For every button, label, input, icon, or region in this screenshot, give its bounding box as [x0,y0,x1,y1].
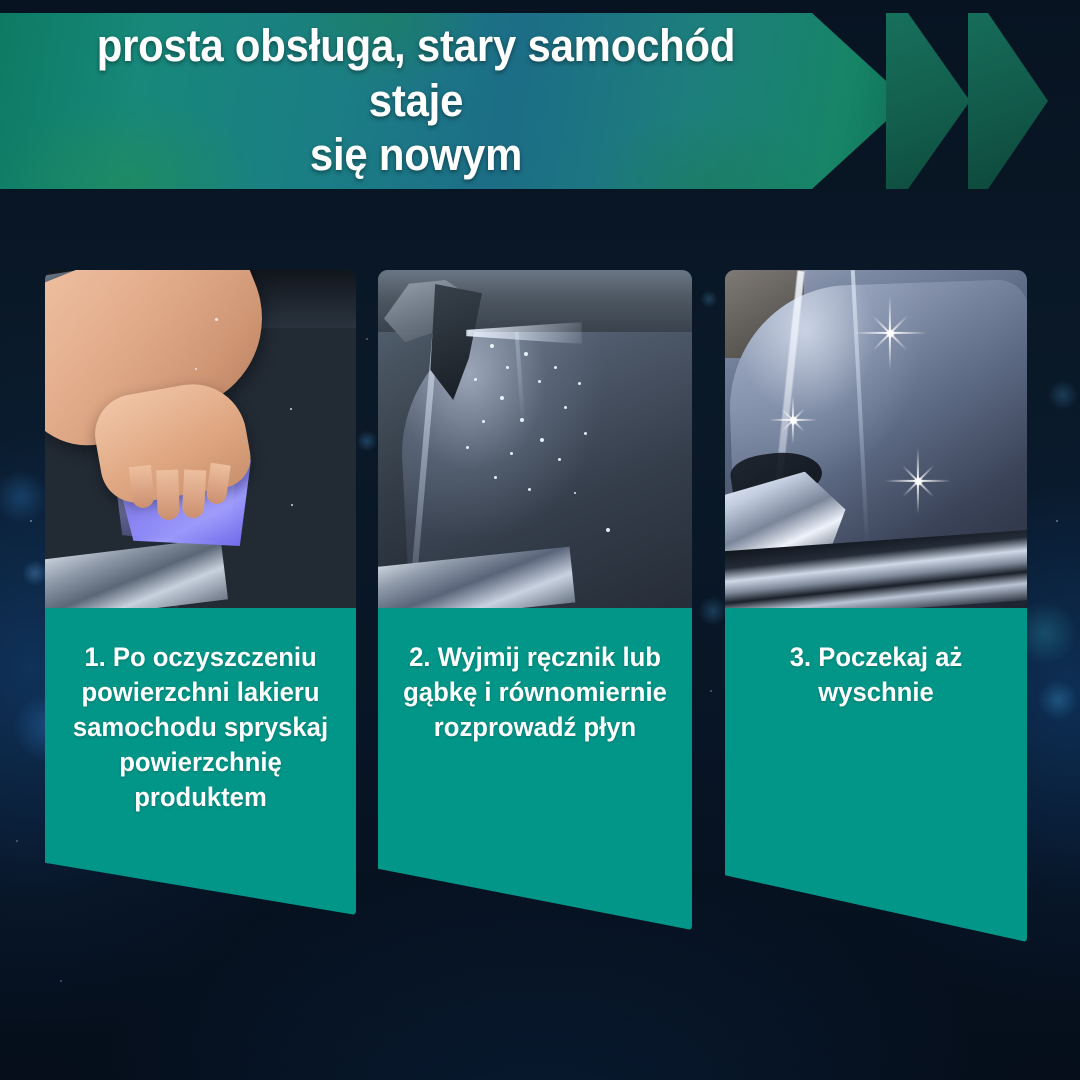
spray-droplet [574,492,576,494]
chrome-trim [45,538,228,608]
dust-speck [291,504,293,506]
step-photo [45,270,356,608]
dust-speck [290,408,292,410]
step-card: 2. Wyjmij ręcznik lub gąbkę i równomiern… [378,270,692,930]
photo-spray-hood [378,270,692,608]
spray-droplet [558,458,561,461]
step-photo [725,270,1027,608]
spray-droplet [482,420,485,423]
spray-droplet [606,528,610,532]
step-photo [378,270,692,608]
step-caption-panel: 1. Po oczyszczeniu powierzchni lakieru s… [45,608,356,915]
chevron-right-icon [886,13,970,189]
spray-droplet [524,352,528,356]
finger [182,469,206,518]
photo-glossy-hood [725,270,1027,608]
spray-droplet [554,366,557,369]
spray-droplet [564,406,567,409]
photo-hand-cloth [45,270,356,608]
spray-droplet [490,344,494,348]
spray-droplet [506,366,509,369]
step-card: 1. Po oczyszczeniu powierzchni lakieru s… [45,270,356,915]
spray-droplet [538,380,541,383]
spray-droplet [520,418,524,422]
step-card: 3. Poczekaj aż wyschnie [725,270,1027,942]
step-caption: 1. Po oczyszczeniu powierzchni lakieru s… [53,640,348,815]
spray-droplet [510,452,513,455]
step-caption-panel: 3. Poczekaj aż wyschnie [725,608,1027,942]
spray-droplet [584,432,587,435]
spray-droplet [528,488,531,491]
spray-droplet [474,378,477,381]
finger [129,465,155,509]
header-banner: prosta obsługa, stary samochód staje się… [0,13,1080,189]
dust-speck [215,318,218,321]
spray-droplet [500,396,504,400]
page-title: prosta obsługa, stary samochód staje się… [29,13,803,189]
spray-droplet [494,476,497,479]
spray-droplet [578,382,581,385]
spray-droplet [466,446,469,449]
step-caption: 3. Poczekaj aż wyschnie [733,640,1020,710]
step-caption-panel: 2. Wyjmij ręcznik lub gąbkę i równomiern… [378,608,692,930]
finger [156,470,180,521]
chevron-right-icon [968,13,1048,189]
dust-speck [195,368,197,370]
step-caption: 2. Wyjmij ręcznik lub gąbkę i równomiern… [386,640,684,745]
spray-droplet [540,438,544,442]
